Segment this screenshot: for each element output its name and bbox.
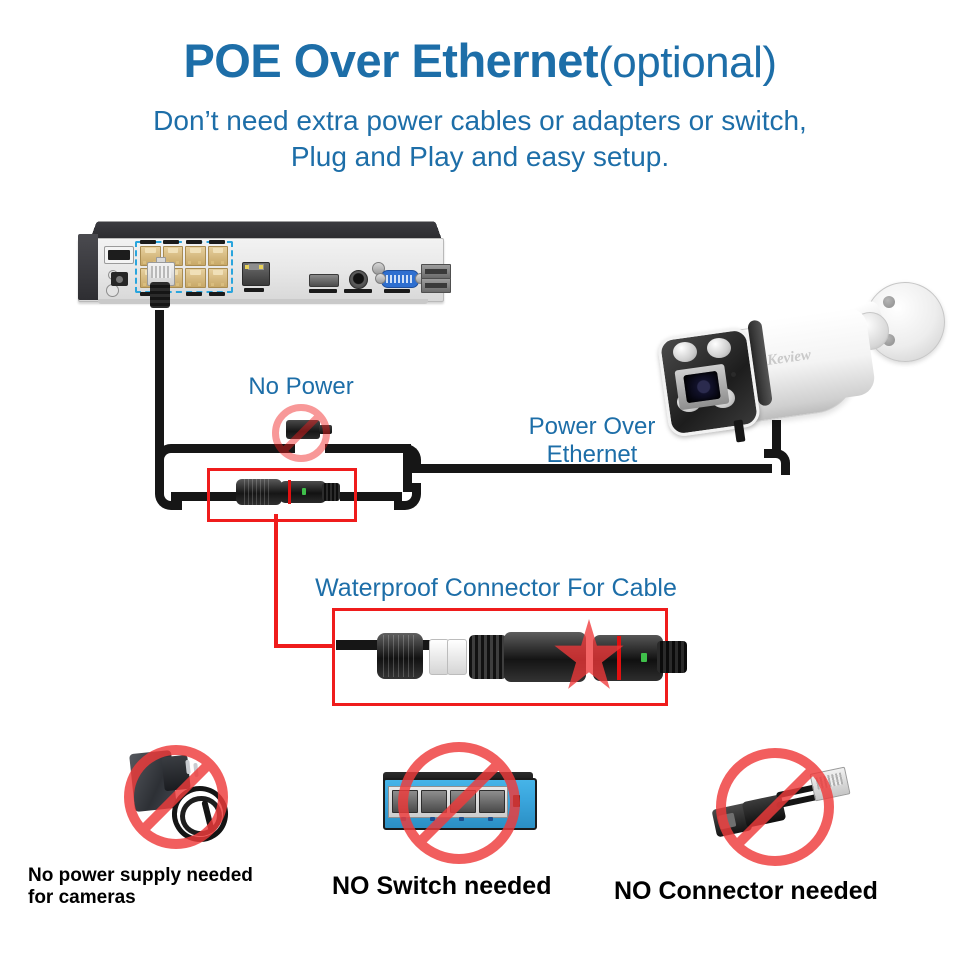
waterproof-connector-title: Waterproof Connector For Cable [256, 575, 736, 603]
wp-green-indicator [302, 488, 306, 495]
rj45-plug-in-nvr [147, 262, 173, 314]
detail-cap-nut [377, 633, 423, 679]
waterproof-connector-inline [236, 477, 348, 507]
nvr-recorder [78, 218, 442, 310]
poe-port [208, 246, 229, 266]
prohibition-icon-connector [716, 748, 834, 866]
mount-screw-hole [883, 296, 895, 308]
detail-white-gasket-b [447, 639, 467, 675]
caption-no-connector: NO Connector needed [614, 877, 944, 907]
nvr-side-cap [78, 234, 98, 300]
title-main: POE Over Ethernet [183, 34, 598, 87]
callout-leader-horizontal [274, 644, 334, 648]
nvr-dc-power-jack [111, 272, 128, 286]
camera-lens [683, 371, 721, 403]
nvr-hdmi-port [309, 274, 339, 287]
no-power-prohibition-icon [272, 404, 330, 462]
cable-trunk-vertical [155, 310, 164, 453]
port-label-tag [186, 292, 202, 296]
caption-no-power-supply: No power supply needed for cameras [28, 865, 328, 910]
hdmi-label-tag [309, 289, 337, 293]
port-label-tag [140, 240, 156, 244]
infographic-canvas: POE Over Ethernet(optional) Don’t need e… [0, 0, 960, 960]
subtitle-line-1: Don’t need extra power cables or adapter… [0, 103, 960, 139]
detail-green-indicator [641, 653, 647, 662]
page-title: POE Over Ethernet(optional) [0, 36, 960, 86]
camera-microphone-icon [731, 372, 736, 377]
rj45-strain-relief-boot [150, 282, 170, 308]
port-label-tag [209, 292, 225, 296]
waterproof-connector-detail [329, 613, 659, 701]
camera-led-top-right [707, 338, 731, 358]
poe-port [208, 268, 229, 288]
prohibition-slash [736, 768, 814, 846]
caption-line-2: for cameras [28, 887, 328, 909]
bullet-camera: Keview [655, 272, 945, 472]
nvr-lan-port [242, 262, 270, 286]
page-subtitle: Don’t need extra power cables or adapter… [0, 103, 960, 175]
nvr-vga-port [381, 270, 419, 288]
audio-label-tag [344, 289, 372, 293]
vga-screw-icon [375, 273, 386, 284]
prohibition-icon-power-supply [124, 745, 228, 849]
nvr-usb-port-lower [421, 278, 451, 293]
poe-port [185, 246, 206, 266]
port-label-tag [163, 240, 179, 244]
detail-red-ring [617, 636, 621, 680]
prohibition-slash [419, 763, 500, 844]
wp-red-ring [288, 480, 291, 504]
prohibition-slash [282, 414, 321, 453]
nvr-audio-out-port [349, 270, 368, 289]
detail-white-gasket-a [429, 639, 449, 675]
nvr-power-switch [104, 246, 134, 264]
detail-cable-grip [657, 641, 687, 673]
detail-threaded-nut [469, 635, 507, 679]
wp-cable-grip [322, 483, 340, 501]
caption-line-1: No power supply needed [28, 865, 328, 887]
lan-label-tag [244, 288, 264, 292]
port-label-tag [209, 240, 225, 244]
no-power-label: No Power [206, 374, 396, 400]
vga-label-tag [384, 289, 410, 293]
poe-port [185, 268, 206, 288]
subtitle-line-2: Plug and Play and easy setup. [0, 139, 960, 175]
nvr-usb-port-upper [421, 264, 451, 279]
wp-nut [236, 479, 282, 505]
port-label-tag [186, 240, 202, 244]
prohibition-icon-switch [398, 742, 520, 864]
title-optional: (optional) [598, 38, 776, 87]
prohibition-slash [141, 762, 210, 831]
camera-led-top-left [673, 342, 697, 362]
caption-no-switch: NO Switch needed [332, 872, 592, 902]
